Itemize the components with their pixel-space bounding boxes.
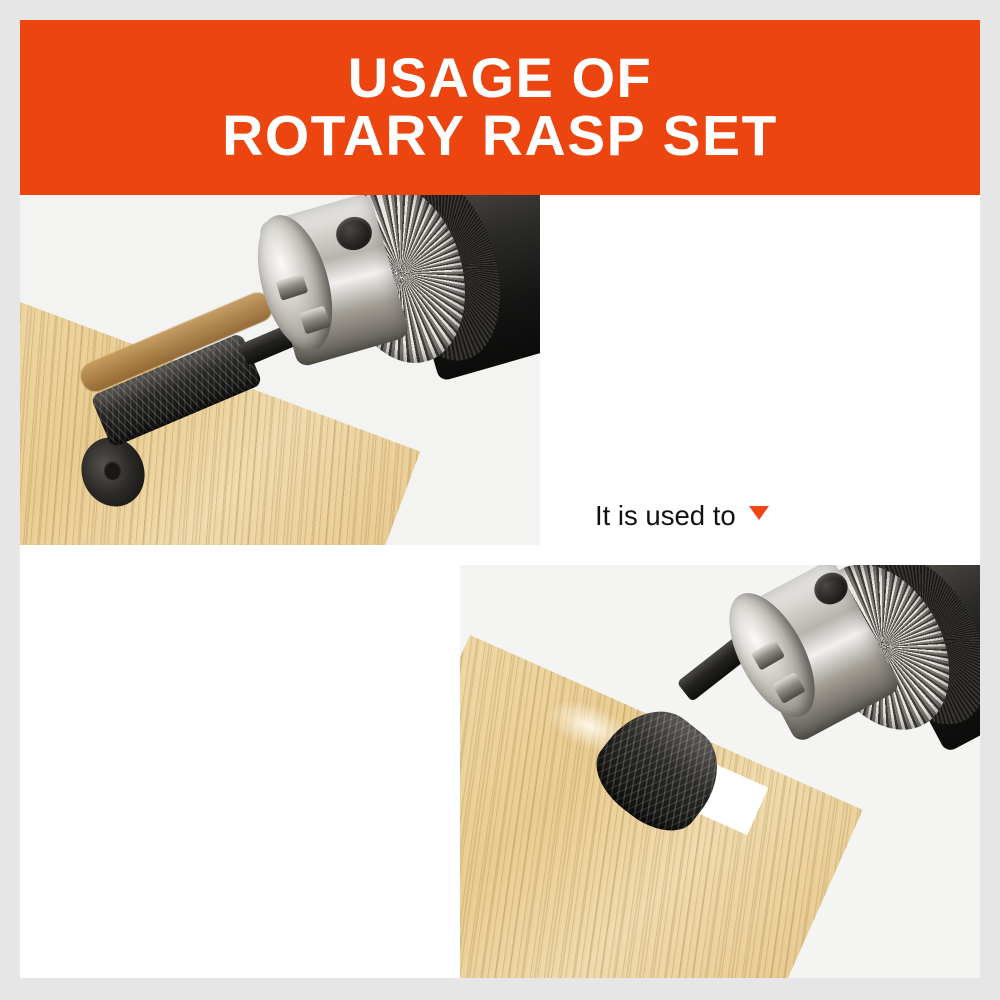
caption-grooves-text-1: It is used to [595, 500, 736, 531]
photo-grooves [20, 195, 540, 545]
drill-chuck [256, 195, 540, 449]
caption-grooves: It is used to make grooves on board quic… [595, 495, 916, 545]
caption-grooves-text-2: make grooves on board [595, 541, 884, 545]
curved-arrow-up-right-icon [498, 533, 608, 545]
usage-panel-grooves: It is used to make grooves on board quic… [20, 195, 980, 545]
content-card: USAGE OF ROTARY RASP SET [20, 20, 980, 978]
photo-polish [460, 565, 980, 978]
drill-chuck [718, 565, 980, 835]
infographic-root: USAGE OF ROTARY RASP SET [0, 0, 1000, 1000]
header-banner: USAGE OF ROTARY RASP SET [20, 20, 980, 195]
rasp-disc-hole [104, 461, 121, 480]
usage-panel-polish: Can polish the burrs quickly [20, 565, 980, 978]
header-title-line-2: ROTARY RASP SET [222, 107, 778, 166]
triangle-down-icon [749, 506, 769, 520]
caption-line-1: It is used to [595, 495, 916, 536]
header-title-line-1: USAGE OF [348, 49, 652, 107]
caption-line-2: make grooves on board [595, 536, 916, 545]
